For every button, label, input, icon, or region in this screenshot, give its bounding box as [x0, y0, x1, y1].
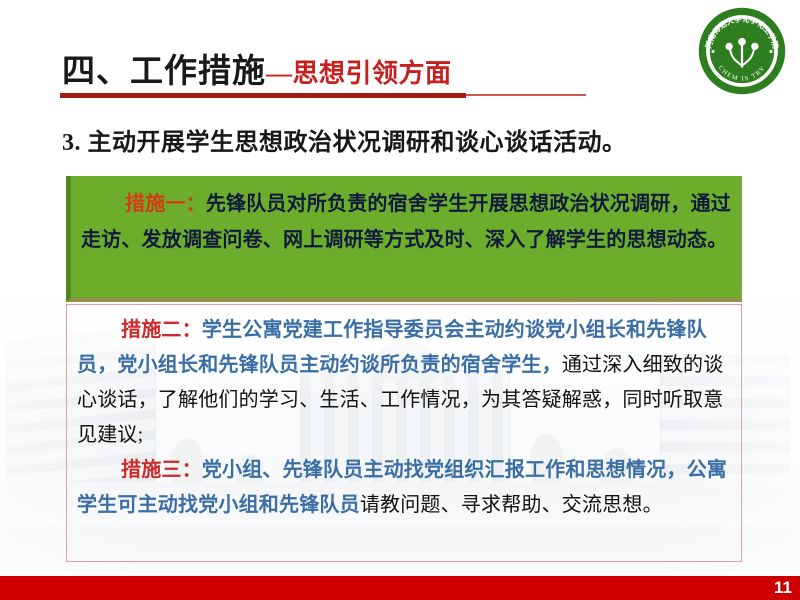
measure-three-body-rest: 请教问题、寻求帮助、交流思想。 [360, 494, 663, 516]
heading-main-text: 四、工作措施 [62, 54, 266, 90]
page-number: 11 [774, 578, 792, 598]
measure-three-label: 措施三： [121, 459, 202, 481]
measure-one-box: 措施一：先锋队员对所负责的宿舍学生开展思想政治状况调研，通过走访、发放调查问卷、… [66, 176, 742, 302]
measure-two-label: 措施二： [121, 319, 202, 341]
heading-underline-thin [466, 94, 586, 96]
measures-two-three-box: 措施二：学生公寓党建工作指导委员会主动约谈党小组长和先锋队员，党小组长和先锋队员… [66, 304, 742, 562]
heading-sub-text: —思想引领方面 [266, 59, 452, 88]
section-item-title: 3. 主动开展学生思想政治状况调研和谈心谈话活动。 [62, 122, 627, 157]
slide-heading: 四、工作措施—思想引领方面 [62, 44, 452, 92]
emblem-dot-right [770, 50, 773, 53]
footer-bar [0, 576, 800, 600]
measure-two-paragraph: 措施二：学生公寓党建工作指导委员会主动约谈党小组长和先锋队员，党小组长和先锋队员… [77, 313, 731, 453]
measure-one-label: 措施一： [125, 193, 206, 215]
college-emblem-logo: 河南师范大学化学化工学院 CHEM IS TRY [696, 5, 788, 97]
heading-underline-thick [60, 93, 466, 98]
measure-one-paragraph: 措施一：先锋队员对所负责的宿舍学生开展思想政治状况调研，通过走访、发放调查问卷、… [81, 186, 733, 258]
presentation-slide: 河南师范大学化学化工学院 CHEM IS TRY 四、工作措施—思想引领方面 3… [0, 0, 800, 600]
emblem-dot-left [712, 50, 715, 53]
measure-three-paragraph: 措施三：党小组、先锋队员主动找党组织汇报工作和思想情况，公寓学生可主动找党小组和… [77, 453, 731, 523]
